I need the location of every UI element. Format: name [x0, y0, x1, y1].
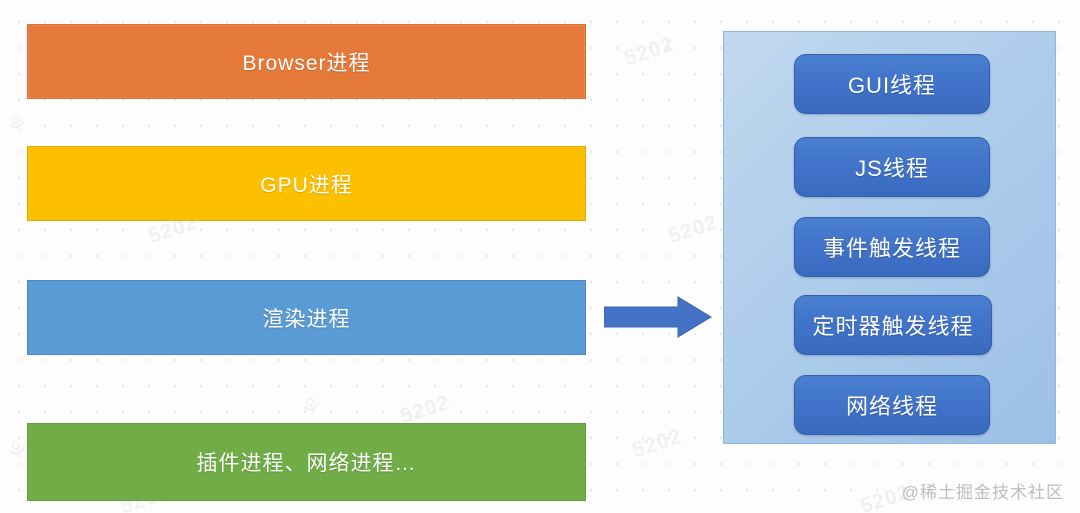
- renderer-threads-panel: GUI线程 JS线程 事件触发线程 定时器触发线程 网络线程: [723, 31, 1056, 444]
- background-watermark: 5202: [630, 425, 686, 463]
- process-label: Browser进程: [242, 47, 370, 77]
- process-block-others: 插件进程、网络进程…: [27, 423, 586, 501]
- thread-box-network: 网络线程: [794, 375, 990, 435]
- right-arrow-icon: [604, 296, 712, 338]
- process-block-browser: Browser进程: [27, 24, 586, 99]
- background-watermark-glyph: ⚘: [296, 389, 329, 426]
- thread-label: 定时器触发线程: [812, 309, 973, 341]
- background-watermark-glyph: ⚘: [2, 107, 35, 144]
- process-block-gpu: GPU进程: [27, 146, 586, 221]
- thread-box-event-trigger: 事件触发线程: [794, 217, 990, 277]
- thread-box-js: JS线程: [794, 137, 990, 197]
- background-watermark: 5202: [622, 33, 678, 71]
- process-block-renderer: 渲染进程: [27, 280, 586, 355]
- arrow-connector: [604, 296, 712, 338]
- thread-label: GUI线程: [848, 68, 936, 100]
- thread-label: 事件触发线程: [823, 231, 961, 263]
- process-label: 插件进程、网络进程…: [197, 447, 417, 477]
- process-label: GPU进程: [260, 169, 353, 199]
- thread-label: JS线程: [855, 151, 929, 183]
- background-watermark: 5202: [666, 211, 722, 249]
- diagram-canvas: 5202 5202 5202 5202 5202 5202 5202 ⚘ ⚘ ⚘…: [0, 0, 1080, 513]
- process-label: 渲染进程: [263, 303, 351, 333]
- thread-label: 网络线程: [846, 389, 938, 421]
- corner-watermark: @稀土掘金技术社区: [902, 478, 1064, 503]
- thread-box-timer-trigger: 定时器触发线程: [794, 295, 992, 355]
- thread-box-gui: GUI线程: [794, 54, 990, 114]
